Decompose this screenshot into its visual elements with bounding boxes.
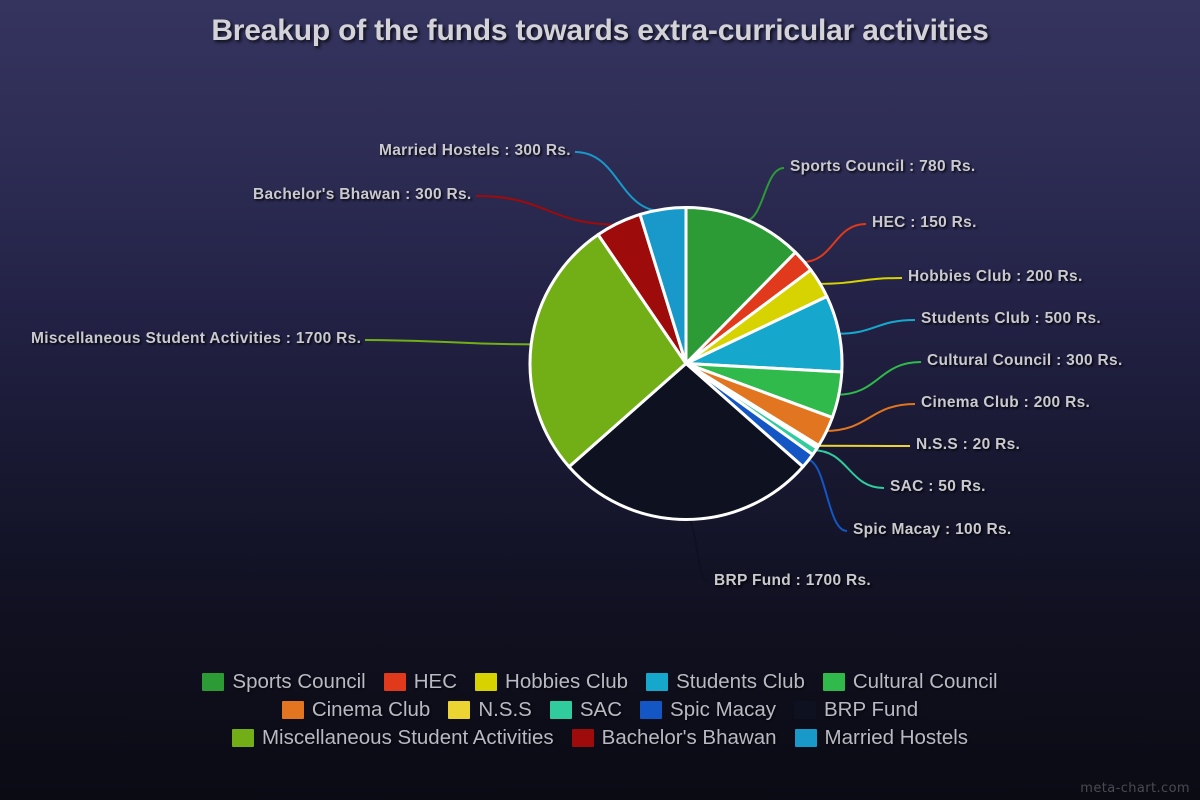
leader-line xyxy=(744,168,784,221)
legend-item[interactable]: Miscellaneous Student Activities xyxy=(232,726,554,750)
slice-callout-misc: Miscellaneous Student Activities : 1700 … xyxy=(31,330,361,348)
legend-swatch-icon xyxy=(640,701,662,719)
slice-callout-hobbies: Hobbies Club : 200 Rs. xyxy=(908,268,1083,286)
slice-callout-hec: HEC : 150 Rs. xyxy=(872,214,977,232)
leader-line xyxy=(806,460,847,531)
legend-swatch-icon xyxy=(202,673,224,691)
legend-label: N.S.S xyxy=(478,698,532,722)
slice-callout-cinema: Cinema Club : 200 Rs. xyxy=(921,394,1090,412)
slice-callout-students: Students Club : 500 Rs. xyxy=(921,310,1101,328)
legend-label: Miscellaneous Student Activities xyxy=(262,726,554,750)
slice-callout-bachelor: Bachelor's Bhawan : 300 Rs. xyxy=(253,186,472,204)
legend-label: SAC xyxy=(580,698,622,722)
legend-swatch-icon xyxy=(795,729,817,747)
legend-swatch-icon xyxy=(448,701,470,719)
legend-swatch-icon xyxy=(823,673,845,691)
slice-callout-sports: Sports Council : 780 Rs. xyxy=(790,158,976,176)
legend-swatch-icon xyxy=(572,729,594,747)
legend-swatch-icon xyxy=(794,701,816,719)
legend-item[interactable]: Cultural Council xyxy=(823,670,998,694)
legend-label: Hobbies Club xyxy=(505,670,628,694)
legend-label: Married Hostels xyxy=(825,726,969,750)
leader-line xyxy=(686,518,708,583)
watermark: meta-chart.com xyxy=(1080,781,1190,796)
pie-slices xyxy=(530,208,842,520)
leader-line xyxy=(575,152,663,211)
legend-label: Cultural Council xyxy=(853,670,998,694)
legend-row: Miscellaneous Student ActivitiesBachelor… xyxy=(223,724,977,752)
leader-line xyxy=(802,224,866,262)
legend-swatch-icon xyxy=(384,673,406,691)
legend-label: Cinema Club xyxy=(312,698,431,722)
slice-callout-nss: N.S.S : 20 Rs. xyxy=(916,436,1020,454)
slice-callout-married: Married Hostels : 300 Rs. xyxy=(379,142,571,160)
slice-callout-cultural: Cultural Council : 300 Rs. xyxy=(927,352,1123,370)
slice-callout-spic: Spic Macay : 100 Rs. xyxy=(853,521,1012,539)
legend-item[interactable]: Sports Council xyxy=(202,670,365,694)
legend-label: Students Club xyxy=(676,670,805,694)
legend-item[interactable]: Married Hostels xyxy=(795,726,969,750)
leader-line xyxy=(365,340,533,344)
slice-callout-sac: SAC : 50 Rs. xyxy=(890,478,986,496)
leader-line xyxy=(837,362,921,395)
legend-item[interactable]: N.S.S xyxy=(448,698,532,722)
legend-swatch-icon xyxy=(282,701,304,719)
legend-label: Sports Council xyxy=(232,670,365,694)
chart-canvas: Breakup of the funds towards extra-curri… xyxy=(0,0,1200,800)
slice-callout-brp: BRP Fund : 1700 Rs. xyxy=(714,572,871,590)
legend-swatch-icon xyxy=(475,673,497,691)
legend-row: Sports CouncilHECHobbies ClubStudents Cl… xyxy=(193,668,1006,696)
legend-item[interactable]: Hobbies Club xyxy=(475,670,628,694)
legend-item[interactable]: Bachelor's Bhawan xyxy=(572,726,777,750)
legend-label: Spic Macay xyxy=(670,698,776,722)
legend-item[interactable]: BRP Fund xyxy=(794,698,918,722)
legend-label: BRP Fund xyxy=(824,698,918,722)
leader-line xyxy=(818,278,902,284)
leader-line xyxy=(476,196,619,225)
legend-item[interactable]: Spic Macay xyxy=(640,698,776,722)
legend-swatch-icon xyxy=(550,701,572,719)
leader-line xyxy=(824,404,915,431)
legend-swatch-icon xyxy=(232,729,254,747)
legend-swatch-icon xyxy=(646,673,668,691)
leader-line xyxy=(837,320,915,334)
legend-row: Cinema ClubN.S.SSACSpic MacayBRP Fund xyxy=(273,696,927,724)
legend-label: HEC xyxy=(414,670,457,694)
legend-label: Bachelor's Bhawan xyxy=(602,726,777,750)
legend-item[interactable]: HEC xyxy=(384,670,457,694)
chart-legend: Sports CouncilHECHobbies ClubStudents Cl… xyxy=(0,668,1200,752)
legend-item[interactable]: Cinema Club xyxy=(282,698,431,722)
legend-item[interactable]: SAC xyxy=(550,698,622,722)
legend-item[interactable]: Students Club xyxy=(646,670,805,694)
